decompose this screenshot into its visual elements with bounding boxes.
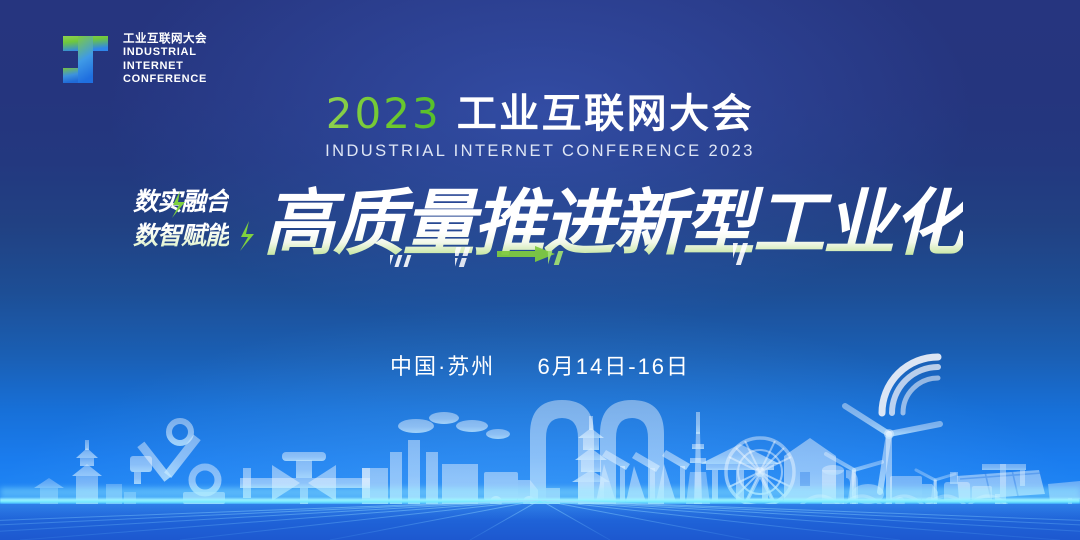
speed-lines-decor-2 [455,245,515,269]
lightning-bolt-icon [133,185,263,255]
logo-wordmark: 工业互联网大会 INDUSTRIAL INTERNET CONFERENCE [123,33,207,87]
perspective-grid-floor [0,500,1080,540]
title-subtitle-english: INDUSTRIAL INTERNET CONFERENCE 2023 [0,142,1080,161]
logo-t-mark-icon [57,30,114,90]
slogan-block: 数实融合 数智赋能 高质量推进新型工业化 [0,183,1080,283]
top-glow [90,0,990,340]
logo-english-line-1: INDUSTRIAL [123,46,207,60]
speed-lines-decor [390,253,460,269]
main-title: 2023 工业互联网大会 [0,92,1080,136]
grid-lines [0,500,1080,540]
conference-logo[interactable]: 工业互联网大会 INDUSTRIAL INTERNET CONFERENCE [57,30,207,90]
speed-lines-decor-3 [548,249,608,267]
logo-english-line-2: INTERNET [123,60,207,74]
title-chinese: 工业互联网大会 [457,92,755,136]
slogan-main: 高质量推进新型工业化 [263,178,963,270]
speed-lines-decor-4 [733,243,779,267]
logo-chinese-name: 工业互联网大会 [123,33,207,46]
logo-english-line-3: CONFERENCE [123,73,207,87]
conference-poster: 工业互联网大会 INDUSTRIAL INTERNET CONFERENCE 2… [0,0,1080,540]
title-year: 2023 [326,92,441,136]
